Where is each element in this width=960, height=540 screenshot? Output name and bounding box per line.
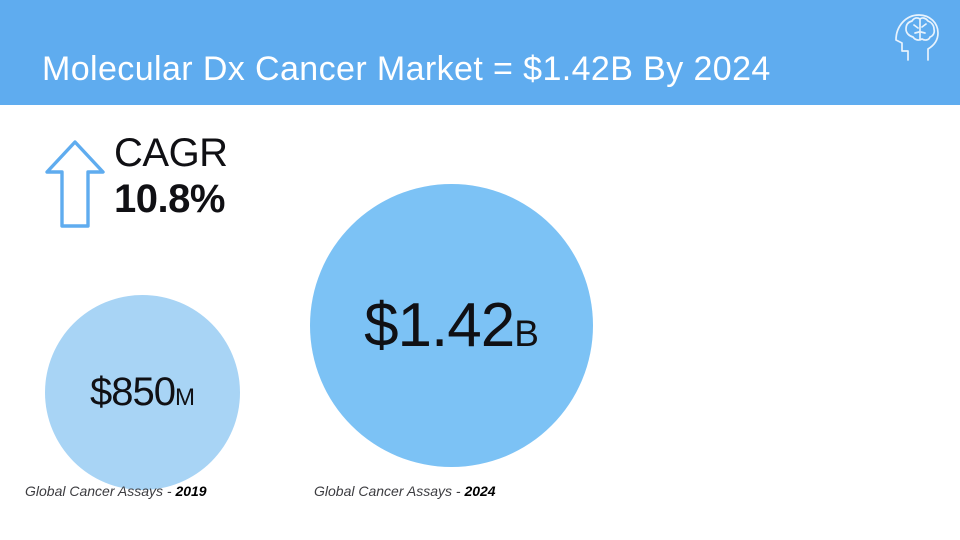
caption-2024-prefix: Global Cancer Assays - (314, 483, 464, 499)
caption-2019: Global Cancer Assays - 2019 (25, 483, 207, 499)
cagr-value: 10.8% (114, 179, 274, 219)
cagr-label: CAGR (114, 133, 274, 173)
caption-2019-year: 2019 (175, 483, 206, 499)
bubble-2019-unit: M (175, 384, 195, 412)
cagr-block: CAGR 10.8% (42, 133, 272, 238)
page-title: Molecular Dx Cancer Market = $1.42B By 2… (42, 52, 771, 86)
caption-2024-year: 2024 (464, 483, 495, 499)
head-brain-icon (888, 8, 942, 64)
bubble-2019-amount: $850 (90, 370, 175, 415)
cagr-text: CAGR 10.8% (114, 133, 274, 219)
bubble-2019-value: $850 M (90, 370, 195, 415)
bubble-2024-amount: $1.42 (364, 290, 514, 361)
bubble-2024-unit: B (514, 313, 539, 355)
bubble-2024-value: $1.42 B (364, 290, 539, 361)
bubble-2019: $850 M (45, 295, 240, 490)
caption-2024: Global Cancer Assays - 2024 (314, 483, 496, 499)
arrow-up-icon (44, 138, 106, 230)
bubble-2024: $1.42 B (310, 184, 593, 467)
header-band: Molecular Dx Cancer Market = $1.42B By 2… (0, 0, 960, 105)
caption-2019-prefix: Global Cancer Assays - (25, 483, 175, 499)
